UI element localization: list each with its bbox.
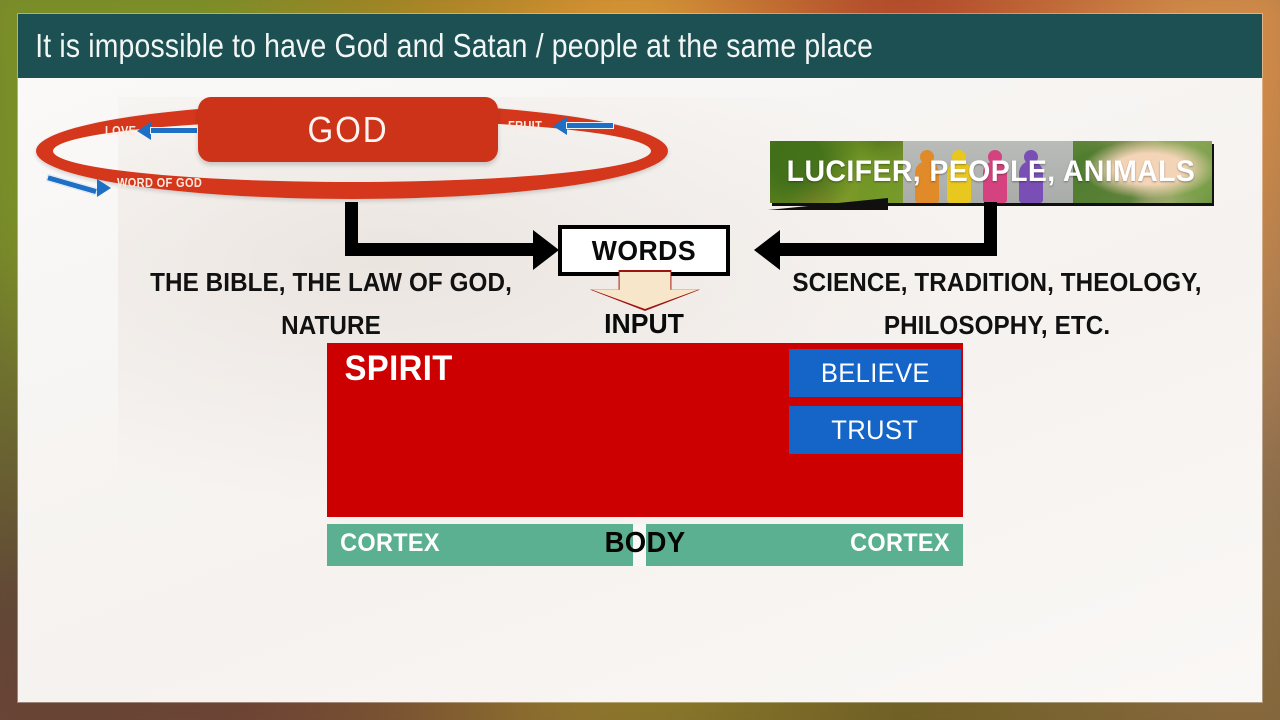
ring-label-word-of-god: WORD OF GOD [117,176,202,190]
spirit-box: SPIRIT BELIEVE TRUST [327,343,963,517]
slide-title: It is impossible to have God and Satan /… [18,27,873,65]
trust-tag: TRUST [789,406,961,454]
reptile-photo [770,141,903,203]
right-connector-horizontal [780,243,997,256]
left-connector-horizontal [345,243,535,256]
animal-photo [1073,141,1212,203]
body-bar: CORTEX CORTEX BODY [327,524,963,566]
believe-tag: BELIEVE [789,349,961,397]
words-label: WORDS [592,235,696,267]
believe-label: BELIEVE [821,358,930,389]
people-figures-photo [903,141,1073,203]
left-sources-text: THE BIBLE, THE LAW OF GOD, NATURE [108,262,555,348]
trust-label: TRUST [832,415,919,446]
god-box: GOD [198,97,498,162]
slide-root: It is impossible to have God and Satan /… [0,0,1280,720]
title-bar: It is impossible to have God and Satan /… [18,14,1262,78]
god-label: GOD [308,109,389,151]
spirit-label: SPIRIT [344,349,452,389]
lucifer-people-animals-banner: LUCIFER, PEOPLE, ANIMALS [770,141,1212,203]
input-label: INPUT [562,308,725,340]
right-sources-text: SCIENCE, TRADITION, THEOLOGY, PHILOSOPHY… [774,262,1221,348]
words-box: WORDS [558,225,730,276]
ring-label-fruit: FRUIT [508,119,542,133]
ring-label-love: LOVE [105,124,136,138]
body-label: BODY [343,527,947,560]
